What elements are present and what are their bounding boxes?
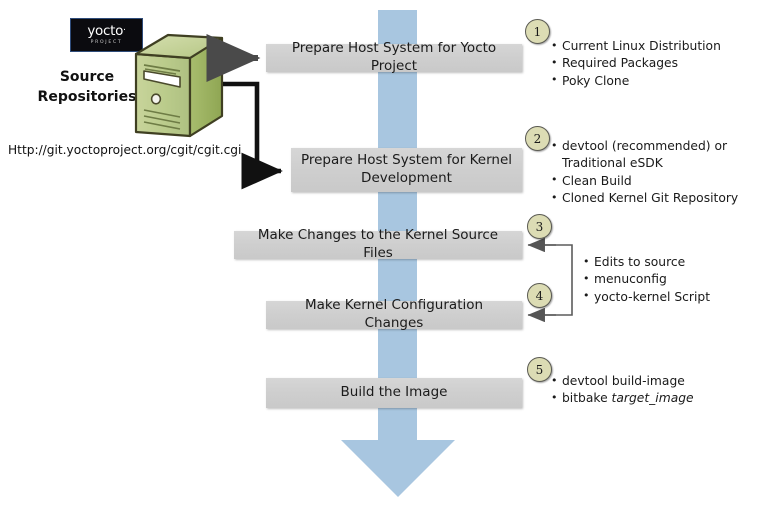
list-item: Clean Build <box>551 173 738 190</box>
step-badge-1: 1 <box>525 19 550 44</box>
bullet-list-steps-3-4: Edits to source menuconfig yocto-kernel … <box>583 254 710 306</box>
step-badge-4: 4 <box>527 283 552 308</box>
list-item: Poky Clone <box>551 73 721 90</box>
process-box-step-1[interactable]: Prepare Host System for Yocto Project <box>266 44 522 72</box>
process-box-step-5[interactable]: Build the Image <box>266 378 522 408</box>
bullet-list-step-5: devtool build-image bitbake target_image <box>551 373 694 408</box>
list-item: yocto-kernel Script <box>583 289 710 306</box>
process-box-step-3[interactable]: Make Changes to the Kernel Source Files <box>234 231 522 259</box>
repository-url-label: Http://git.yoctoproject.org/cgit/cgit.cg… <box>8 143 241 157</box>
list-item: Cloned Kernel Git Repository <box>551 190 738 207</box>
list-item: Edits to source <box>583 254 710 271</box>
step-badge-2: 2 <box>525 126 550 151</box>
list-item: Required Packages <box>551 55 721 72</box>
list-item: devtool (recommended) orTraditional eSDK <box>551 138 738 173</box>
arrow-server-to-step2 <box>223 84 281 171</box>
diagram-canvas: yocto· PROJECT Source Repositories Http:… <box>0 0 769 517</box>
flow-arrowhead-icon <box>341 440 455 497</box>
list-item: menuconfig <box>583 271 710 288</box>
step-badge-5: 5 <box>527 357 552 382</box>
logo-subtitle: PROJECT <box>91 41 123 46</box>
process-box-step-2[interactable]: Prepare Host System for Kernel Developme… <box>291 148 522 192</box>
step-badge-3: 3 <box>527 214 552 239</box>
server-tower-icon <box>132 32 228 138</box>
bullet-list-step-1: Current Linux Distribution Required Pack… <box>551 38 721 90</box>
list-item: devtool build-image <box>551 373 694 390</box>
logo-wordmark: yocto· <box>87 25 125 39</box>
source-repositories-label: Source Repositories <box>35 67 139 108</box>
process-box-step-4[interactable]: Make Kernel Configuration Changes <box>266 301 522 329</box>
list-item: Current Linux Distribution <box>551 38 721 55</box>
bullet-list-step-2: devtool (recommended) orTraditional eSDK… <box>551 138 738 208</box>
list-item: bitbake target_image <box>551 390 694 407</box>
